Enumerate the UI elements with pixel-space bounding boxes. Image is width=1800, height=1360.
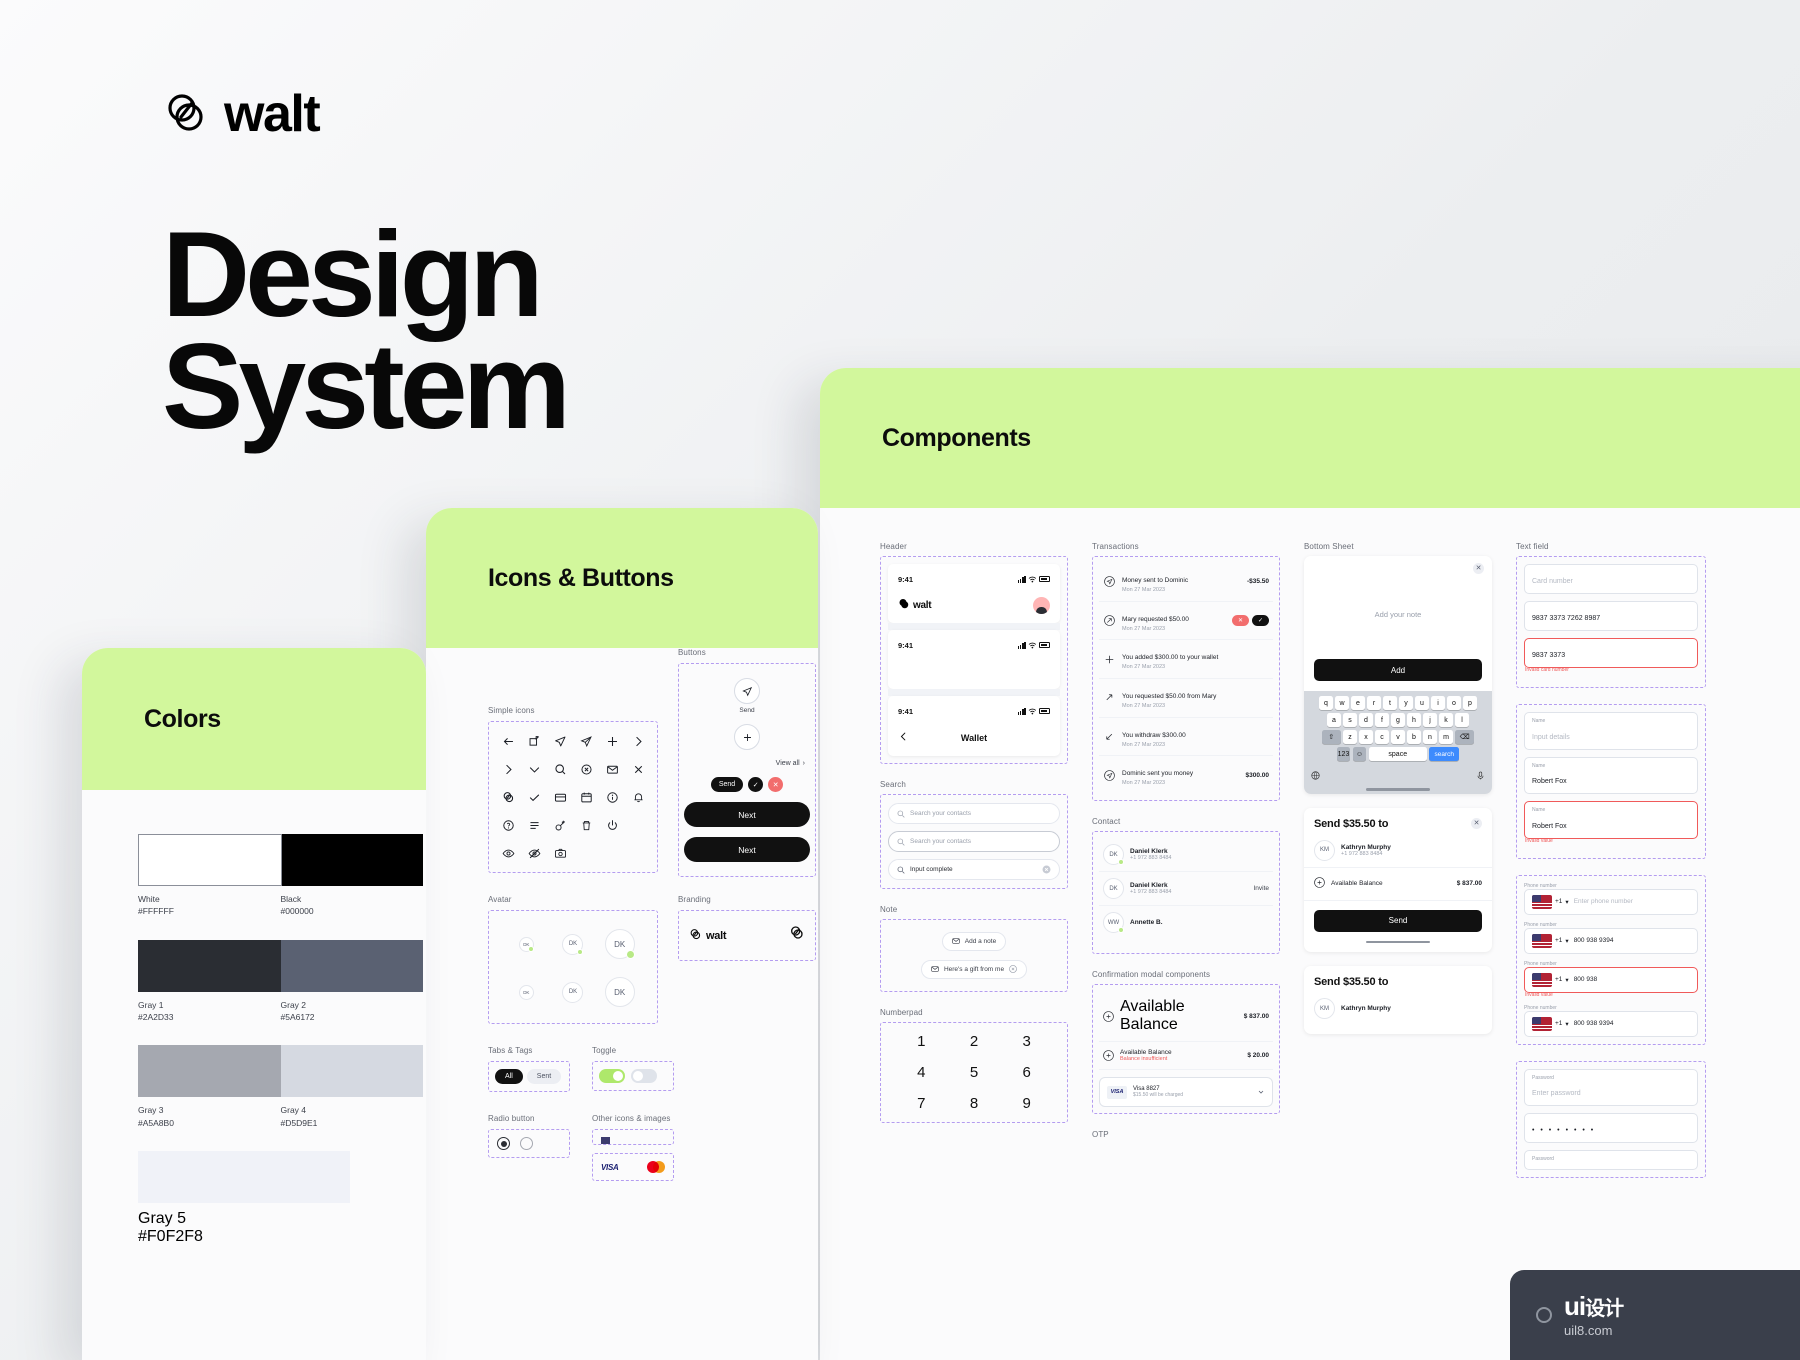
phone-header-3: 9:41 Wallet [888,696,1060,756]
search-icon[interactable] [547,762,573,776]
hero-section: walt Design System [162,88,566,442]
swatch-label-gray-3: Gray 3 #A5A8B0 [138,1104,281,1129]
color-name: Gray 4 [281,1104,424,1116]
contact-row[interactable]: DK Daniel Klerk +1 972 883 8484 Invite [1099,872,1273,906]
search-placeholder: Search your contacts [910,838,1051,845]
divider [888,623,1060,630]
transaction-row[interactable]: You added $300.00 to your wallet Mon 27 … [1099,640,1273,679]
key-q[interactable]: q [1319,696,1333,710]
buttons-group: Send View all › Send ✓ ✕ Next Next [678,663,816,877]
accept-button[interactable]: ✓ [1252,615,1269,626]
add-note-button[interactable]: Add a note [942,932,1006,951]
avatar[interactable] [1033,597,1050,614]
chevron-right-icon-alt[interactable] [625,734,651,748]
key-b[interactable]: b [1407,730,1421,744]
toggle-off[interactable] [631,1069,657,1083]
key-a[interactable]: a [1327,713,1341,727]
info-icon[interactable] [599,790,625,804]
key-f[interactable]: f [1375,713,1389,727]
numpad-key-7[interactable]: 7 [917,1095,925,1112]
add-button[interactable]: Add [1314,659,1482,681]
transaction-text: Money sent to Dominic Mon 27 Mar 2023 [1122,569,1241,595]
transaction-row[interactable]: Money sent to Dominic Mon 27 Mar 2023 -$… [1099,563,1273,602]
request-icon [1103,614,1116,627]
chevron-down-icon[interactable] [521,762,547,776]
field-label: Password [1532,1156,1690,1164]
back-arrow-icon[interactable] [898,729,909,747]
swatch-white [138,834,282,886]
note-placeholder[interactable]: Add your note [1304,574,1492,659]
transaction-row[interactable]: You withdraw $300.00 Mon 27 Mar 2023 [1099,718,1273,757]
caption-buttons: Buttons [678,648,818,657]
key-z[interactable]: z [1343,730,1357,744]
transaction-title: Money sent to Dominic [1122,577,1188,584]
status-dot [528,946,534,952]
avatar: KM [1314,840,1335,861]
search-field-default[interactable]: Search your contacts [888,803,1060,824]
chevron-right-icon: › [803,760,805,767]
search-field-focused[interactable]: Search your contacts [888,831,1060,852]
walt-logo-icon [789,925,805,946]
text-field-group-card: Card number 9837 3373 7262 8987 9837 337… [1516,556,1706,688]
walt-logo-icon[interactable] [495,790,521,804]
chevron-down-icon[interactable]: ▾ [1565,1020,1568,1028]
other-icons-group-flag [592,1129,674,1145]
transaction-text: You added $300.00 to your wallet Mon 27 … [1122,646,1269,672]
contact-row[interactable]: DK Daniel Klerk +1 972 883 8484 [1099,838,1273,872]
status-time: 9:41 [898,575,913,584]
menu-icon[interactable] [521,818,547,832]
transaction-title: You withdraw $300.00 [1122,732,1186,739]
share-icon[interactable] [521,734,547,748]
withdraw-icon [1103,730,1116,743]
backspace-icon[interactable]: ⌫ [1455,730,1474,744]
caption-bottom-sheet: Bottom Sheet [1304,542,1492,551]
caption-text-field: Text field [1516,542,1706,551]
balance-row: Available Balance $ 837.00 [1304,867,1492,901]
color-hex: #D5D9E1 [281,1117,424,1129]
swatch-gray-3 [138,1045,281,1097]
swatch-label-white: White #FFFFFF [138,893,281,918]
text-field-name-error[interactable]: Name Robert Fox [1524,801,1698,839]
note-icon [952,937,960,947]
clear-icon[interactable] [1042,861,1051,879]
transaction-title: Dominic sent you money [1122,770,1193,777]
close-icon[interactable]: ✕ [1471,818,1482,829]
chip-accept[interactable]: ✓ [748,777,763,792]
key-k[interactable]: k [1439,713,1453,727]
search-icon [897,861,905,879]
chevron-down-icon[interactable]: ▾ [1565,937,1568,945]
balance-label: Available Balance [1331,880,1451,887]
swatch-label-gray-5: Gray 5 #F0F2F8 [138,1210,350,1246]
numpad-key-1[interactable]: 1 [917,1033,925,1050]
tab-all[interactable]: All [495,1069,523,1084]
key-o[interactable]: o [1447,696,1461,710]
field-value: 9837 3373 7262 8987 [1532,615,1600,622]
battery-icon [1039,576,1050,582]
field-label: Name [1532,763,1690,771]
chevron-down-icon[interactable] [1257,1083,1265,1101]
contact-phone: +1 972 883 8484 [1130,855,1269,861]
color-name: Gray 3 [138,1104,281,1116]
field-value: Robert Fox [1532,778,1567,785]
numpad-key-8[interactable]: 8 [970,1095,978,1112]
field-placeholder: Card number [1532,578,1573,585]
field-value: 800 938 9394 [1574,1020,1690,1027]
avatar-medium[interactable]: DK [562,982,583,1003]
trash-icon[interactable] [573,818,599,832]
field-label: Phone number [1524,883,1698,889]
text-field-name-empty[interactable]: Name Input details [1524,712,1698,750]
request-icon [1103,691,1116,704]
key-v[interactable]: v [1391,730,1405,744]
wallet-icon [1103,1050,1114,1061]
country-code: +1 [1555,1020,1562,1027]
balance-label: Available Balance [1120,1049,1241,1056]
transaction-actions: ✕ ✓ [1232,615,1269,626]
numbers-key[interactable]: 123 [1337,747,1351,761]
status-time: 9:41 [898,641,913,650]
card-select[interactable]: VISA Visa 8827 $15.50 will be charged [1099,1077,1273,1107]
wallet-icon [1103,1011,1114,1022]
bottom-sheet-send-2: Send $35.50 to KM Kathryn Murphy [1304,966,1492,1034]
transaction-date: Mon 27 Mar 2023 [1122,626,1226,634]
contact-name: Daniel Klerk [1130,882,1247,889]
bottom-sheet-send-1: Send $35.50 to ✕ KM Kathryn Murphy +1 97… [1304,808,1492,953]
key-icon[interactable] [547,818,573,832]
colors-card: Colors White #FFFFFF Black #000000 [82,648,426,1360]
visa-icon: VISA [1107,1086,1127,1099]
swatch-black [282,834,424,886]
eye-icon[interactable] [495,846,521,860]
phone-field-filled-2: Phone number +1 ▾ 800 938 9394 [1524,1005,1698,1037]
chip-decline[interactable]: ✕ [768,777,783,792]
caption-other-icons: Other icons & images [592,1114,674,1123]
header-title-row: Wallet [888,722,1060,756]
walt-logo-icon [162,90,210,138]
numpad-key-2[interactable]: 2 [970,1033,978,1050]
password-field-empty[interactable]: Password Enter password [1524,1069,1698,1107]
tabs-group: All Sent [488,1061,570,1092]
add-note-label: Add a note [965,938,996,945]
color-hex: #FFFFFF [138,905,281,917]
field-value: Robert Fox [1532,823,1567,830]
color-name: White [138,893,281,905]
swatch-gray-4 [281,1045,424,1097]
watermark-line2: uil8.com [1564,1323,1623,1338]
next-button-primary[interactable]: Next [684,802,810,827]
check-icon[interactable] [521,790,547,804]
key-i[interactable]: i [1431,696,1445,710]
note-icon [931,965,939,975]
text-field-empty[interactable]: Card number [1524,564,1698,594]
plus-icon [1103,653,1116,666]
view-all-link[interactable]: View all › [776,760,805,767]
wifi-icon [1028,702,1037,720]
chevron-right-icon[interactable] [495,762,521,776]
password-field-filled[interactable]: • • • • • • • • [1524,1113,1698,1143]
close-circle-icon[interactable] [573,762,599,776]
color-name: Gray 1 [138,999,281,1011]
gift-note-chip[interactable]: Here's a gift from me [921,960,1027,979]
color-name: Black [281,893,424,905]
field-error-message: Invalid card number [1525,667,1698,673]
color-hex: #F0F2F8 [138,1228,350,1246]
header-brand-row: walt [888,590,1060,623]
avatar-medium-online[interactable]: DK [562,934,583,955]
components-column-bottom-sheet: Bottom Sheet ✕ Add your note Add q w e r… [1304,542,1492,1178]
radio-selected[interactable] [497,1137,510,1150]
toggle-knob [633,1071,643,1081]
avatar-large[interactable]: DK [605,977,635,1007]
transaction-text: Mary requested $50.00 Mon 27 Mar 2023 [1122,608,1226,634]
keyboard-row-1: q w e r t y u i o p [1307,696,1489,710]
camera-icon[interactable] [547,846,573,860]
chevron-down-icon[interactable]: ▾ [1565,898,1568,906]
search-group: Search your contacts Search your contact… [880,794,1068,889]
key-w[interactable]: w [1335,696,1349,710]
text-field-name-filled[interactable]: Name Robert Fox [1524,757,1698,795]
search-key[interactable]: search [1429,747,1459,761]
text-field-filled[interactable]: 9837 3373 7262 8987 [1524,601,1698,631]
caption-search: Search [880,780,1068,789]
status-dot [1118,859,1124,865]
close-icon[interactable] [625,762,651,776]
page-title-line2: System [162,330,566,442]
us-flag-icon [1532,895,1552,909]
buttons-column: Buttons Send View all › Send ✓ [678,648,818,961]
visa-icon: VISA [601,1163,618,1172]
avatar-small-online[interactable]: DK [519,937,534,952]
page-title-line1: Design [162,218,566,330]
key-r[interactable]: r [1367,696,1381,710]
transaction-row[interactable]: Dominic sent you money Mon 27 Mar 2023 $… [1099,756,1273,794]
brand-name: walt [224,88,319,140]
contact-name: Annette B. [1130,919,1269,926]
signal-icon [1018,576,1026,583]
color-hex: #000000 [281,905,424,917]
field-error-message: Invalid value [1525,838,1698,844]
close-icon[interactable] [1009,965,1017,975]
transaction-date: Mon 27 Mar 2023 [1122,780,1240,788]
key-h[interactable]: h [1407,713,1421,727]
radio-unselected[interactable] [520,1137,533,1150]
key-g[interactable]: g [1391,713,1405,727]
search-placeholder: Search your contacts [910,810,1051,817]
ring-icon [1536,1307,1552,1323]
transaction-row[interactable]: Mary requested $50.00 Mon 27 Mar 2023 ✕ … [1099,602,1273,641]
phone-header-2: 9:41 [888,630,1060,689]
caption-toggle: Toggle [592,1046,674,1055]
caption-radio-button: Radio button [488,1114,570,1123]
colors-body: White #FFFFFF Black #000000 Gray 1 #2A2D… [82,790,426,1246]
send-circle-button[interactable] [734,678,760,704]
keyboard-row-4: 123 ☺ space search [1307,747,1489,761]
field-label: Password [1532,1075,1690,1083]
us-flag-icon [1532,973,1552,987]
balance-row-error: Available Balance Balance insufficient $… [1099,1042,1273,1070]
arrow-left-icon[interactable] [495,734,521,748]
power-icon[interactable] [599,818,625,832]
caption-contact: Contact [1092,817,1280,826]
bell-icon[interactable] [625,790,651,804]
key-n[interactable]: n [1423,730,1437,744]
icons-heading: Icons & Buttons [488,564,674,593]
key-t[interactable]: t [1383,696,1397,710]
caption-numberpad: Numberpad [880,1008,1068,1017]
send-icon[interactable] [547,734,573,748]
swatch-row: White #FFFFFF Black #000000 [138,834,423,918]
components-column-transactions: Transactions Money sent to Dominic Mon 2… [1092,542,1280,1178]
text-field-error[interactable]: 9837 3373 [1524,638,1698,668]
transaction-row[interactable]: You requested $50.00 from Mary Mon 27 Ma… [1099,679,1273,718]
invite-button[interactable]: Invite [1253,885,1269,892]
avatar-small[interactable]: DK [519,985,534,1000]
phone-field-empty: Phone number +1 ▾ Enter phone number [1524,883,1698,915]
field-label: Phone number [1524,961,1698,967]
balance-label: Available Balance [1120,998,1238,1034]
send-title: Send $35.50 to [1314,818,1388,830]
caption-tabs-tags: Tabs & Tags [488,1046,570,1055]
key-e[interactable]: e [1351,696,1365,710]
swatch-label-black: Black #000000 [281,893,424,918]
swatch-gray-2 [281,940,424,992]
header-empty-row [888,656,1060,689]
swatch-gray-5 [138,1151,350,1203]
card-note: $15.50 will be charged [1133,1092,1251,1098]
field-value: 9837 3373 [1532,652,1565,659]
chip-send[interactable]: Send [711,777,743,792]
key-d[interactable]: d [1359,713,1373,727]
battery-icon [1039,642,1050,648]
icons-card-header: Icons & Buttons [426,508,818,648]
watermark-line1: ui设计 [1564,1291,1623,1321]
swatch-row: Gray 3 #A5A8B0 Gray 4 #D5D9E1 [138,1045,423,1129]
keyboard-row-2: a s d f g h j k l [1307,713,1489,727]
brand-lockup-name: walt [706,930,726,942]
numpad-key-3[interactable]: 3 [1022,1033,1030,1050]
mail-icon[interactable] [599,762,625,776]
field-error-message: Invalid value [1525,992,1698,998]
status-dot [626,950,635,959]
swatch-row: Gray 5 #F0F2F8 [138,1151,423,1246]
key-y[interactable]: y [1399,696,1413,710]
phone-screen-title: Wallet [909,733,1039,743]
card-icon[interactable] [547,790,573,804]
balance-value: $ 20.00 [1247,1052,1269,1059]
numpad-key-4[interactable]: 4 [917,1064,925,1081]
calendar-icon[interactable] [573,790,599,804]
transaction-text: You withdraw $300.00 Mon 27 Mar 2023 [1122,724,1269,750]
color-hex: #2A2D33 [138,1011,281,1023]
field-label: Name [1532,807,1690,815]
field-label: Phone number [1524,922,1698,928]
send-button[interactable]: Send [1314,910,1482,932]
phone-brand: walt [898,598,931,613]
shift-icon[interactable]: ⇧ [1322,730,1341,744]
numpad-key-9[interactable]: 9 [1022,1095,1030,1112]
transaction-date: Mon 27 Mar 2023 [1122,664,1269,672]
simple-icons-group [488,721,658,873]
key-s[interactable]: s [1343,713,1357,727]
text-field-group-name: Name Input details Name Robert Fox Name … [1516,704,1706,859]
components-column-text-field: Text field Card number 9837 3373 7262 89… [1516,542,1706,1178]
confirmation-group: Available Balance $ 837.00 Available Bal… [1092,984,1280,1114]
key-p[interactable]: p [1463,696,1477,710]
gift-note-label: Here's a gift from me [944,966,1004,973]
decline-button[interactable]: ✕ [1232,615,1249,626]
status-icons [1018,702,1050,720]
close-icon[interactable]: ✕ [1473,563,1484,574]
transaction-title: You added $300.00 to your wallet [1122,654,1218,661]
contact-group: DK Daniel Klerk +1 972 883 8484 DK Danie… [1092,831,1280,954]
brand-lockup-small: walt [689,928,726,944]
transaction-date: Mon 27 Mar 2023 [1122,742,1269,750]
swatch-gray-1 [138,940,281,992]
contact-row[interactable]: WW Annette B. [1099,906,1273,947]
key-l[interactable]: l [1455,713,1469,727]
send-outline-icon[interactable] [573,734,599,748]
next-button-secondary[interactable]: Next [684,837,810,862]
key-m[interactable]: m [1439,730,1453,744]
phone-field-filled: Phone number +1 ▾ 800 938 9394 [1524,922,1698,954]
plus-icon[interactable] [599,734,625,748]
status-icons [1018,636,1050,654]
password-field-label[interactable]: Password [1524,1150,1698,1170]
help-circle-icon[interactable] [495,818,521,832]
globe-icon[interactable] [1311,767,1320,785]
toggle-on[interactable] [599,1069,625,1083]
transaction-text: Dominic sent you money Mon 27 Mar 2023 [1122,762,1240,788]
space-key[interactable]: space [1369,747,1427,761]
colors-card-header: Colors [82,648,426,790]
search-field-filled[interactable]: Input complete [888,859,1060,880]
status-bar: 9:41 [888,696,1060,722]
mic-icon[interactable] [1476,767,1485,785]
numpad-key-6[interactable]: 6 [1022,1064,1030,1081]
field-value: • • • • • • • • [1532,1127,1595,1134]
status-bar: 9:41 [888,630,1060,656]
us-flag-icon [1532,934,1552,948]
country-code: +1 [1555,976,1562,983]
key-c[interactable]: c [1375,730,1389,744]
components-card: Components Header 9:41 [820,368,1800,1360]
emoji-icon[interactable]: ☺ [1353,747,1367,761]
send-button-label: Send [739,707,754,714]
transaction-text: You requested $50.00 from Mary Mon 27 Ma… [1122,685,1269,711]
page-title: Design System [162,218,566,442]
add-circle-button[interactable] [734,724,760,750]
field-placeholder: Enter phone number [1574,898,1690,905]
avatar-large-online[interactable]: DK [605,929,635,959]
icons-buttons-card: Icons & Buttons Simple icons [426,508,818,1360]
field-placeholder: Enter password [1532,1090,1581,1097]
tab-sent[interactable]: Sent [527,1069,561,1084]
key-j[interactable]: j [1423,713,1437,727]
chevron-down-icon[interactable]: ▾ [1565,976,1568,984]
home-indicator [1366,941,1430,944]
key-u[interactable]: u [1415,696,1429,710]
color-name: Gray 2 [281,999,424,1011]
numberpad-group: 1 2 3 4 5 6 7 8 9 [880,1022,1068,1123]
field-placeholder: Input details [1532,734,1570,741]
eye-off-icon[interactable] [521,846,547,860]
recipient-phone: +1 972 883 8484 [1341,851,1482,857]
bottom-sheet-note: ✕ Add your note Add q w e r t y u i o [1304,556,1492,794]
key-x[interactable]: x [1359,730,1373,744]
numpad-key-5[interactable]: 5 [970,1064,978,1081]
